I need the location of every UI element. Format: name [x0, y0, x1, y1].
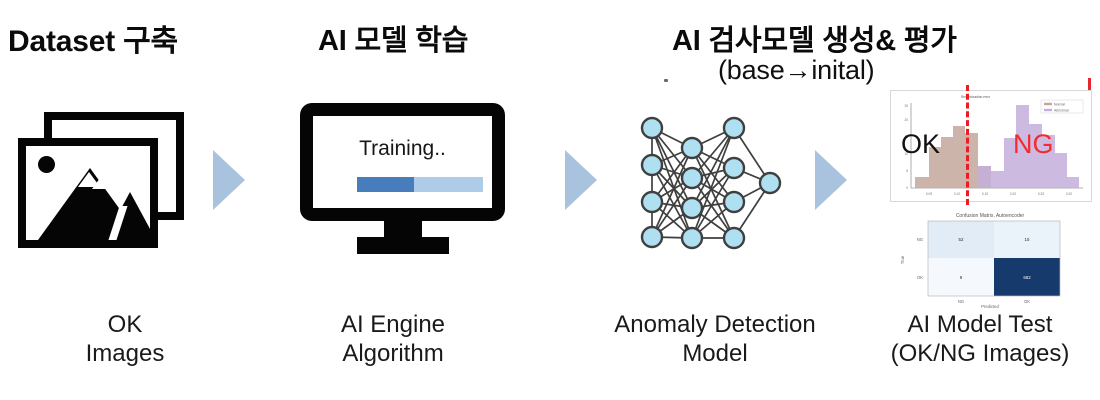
step-heading-model: AI 검사모델 생성& 평가: [672, 17, 957, 59]
svg-text:0.25: 0.25: [1038, 192, 1044, 196]
svg-text:0.30: 0.30: [1066, 192, 1072, 196]
svg-text:52: 52: [959, 237, 964, 242]
step-caption-model: Anomaly Detection Model: [565, 310, 865, 369]
neural-network-svg: [630, 110, 790, 255]
histogram-ng-label: NG: [1013, 129, 1054, 160]
svg-text:0.15: 0.15: [982, 192, 988, 196]
svg-text:Normal: Normal: [1054, 103, 1065, 107]
svg-text:5: 5: [906, 169, 908, 173]
svg-text:0.05: 0.05: [926, 192, 932, 196]
step-caption-training: AI Engine Algorithm: [268, 310, 518, 369]
step-caption-dataset: OK Images: [0, 310, 250, 369]
svg-text:Predicted: Predicted: [981, 304, 999, 309]
arrow-2: [565, 150, 597, 210]
svg-text:20: 20: [904, 118, 908, 122]
confusion-matrix-chart: Confusion Matrix, Autoencoder 52 15 9 68…: [890, 208, 1090, 310]
charts-icon: Reconstruction error Normal Abnormal 05 …: [890, 90, 1090, 310]
svg-text:OK: OK: [1024, 299, 1030, 304]
photo-stack-icon: [18, 112, 188, 257]
process-flow-diagram: Dataset 구축 AI 모델 학습 AI 검사모델 생성& 평가 (base…: [0, 0, 1100, 400]
monitor-screen: Training..: [300, 103, 505, 221]
progress-bar-track: [357, 177, 483, 192]
svg-text:25: 25: [904, 104, 908, 108]
mountain-image-art: [26, 146, 150, 240]
arrow-3: [815, 150, 847, 210]
monitor-stand-base: [357, 237, 449, 254]
histogram-chart: Reconstruction error Normal Abnormal 05 …: [890, 90, 1092, 202]
stray-dot-artifact: [664, 79, 668, 82]
svg-text:15: 15: [1025, 237, 1030, 242]
arrow-1: [213, 150, 245, 210]
neural-network-icon: [630, 110, 790, 255]
svg-text:0: 0: [906, 186, 908, 190]
confusion-matrix-title: Confusion Matrix, Autoencoder: [956, 213, 1025, 219]
histogram-threshold-line: [966, 85, 969, 205]
svg-text:NG: NG: [958, 299, 964, 304]
monitor-icon: Training..: [300, 103, 505, 258]
svg-text:0.10: 0.10: [954, 192, 960, 196]
step-caption-evaluation: AI Model Test (OK/NG Images): [860, 310, 1100, 369]
monitor-screen-content: Training..: [326, 129, 479, 195]
step-heading-dataset: Dataset 구축: [8, 16, 178, 60]
histogram-legend: Normal Abnormal: [1041, 100, 1083, 113]
svg-text:NG: NG: [917, 237, 923, 242]
histogram-ok-label: OK: [901, 129, 940, 160]
mountain-snowcap-shape-2: [92, 178, 108, 189]
svg-text:True: True: [900, 255, 905, 264]
step-subheading-model: (base→inital): [718, 55, 874, 86]
progress-bar-fill: [357, 177, 414, 192]
confusion-matrix-svg: Confusion Matrix, Autoencoder 52 15 9 68…: [890, 208, 1090, 310]
svg-text:682: 682: [1023, 275, 1031, 280]
svg-text:Abnormal: Abnormal: [1054, 109, 1069, 113]
svg-text:OK: OK: [917, 275, 923, 280]
svg-text:0.20: 0.20: [1010, 192, 1016, 196]
step-heading-training: AI 모델 학습: [318, 17, 468, 59]
training-status-text: Training..: [326, 137, 479, 161]
